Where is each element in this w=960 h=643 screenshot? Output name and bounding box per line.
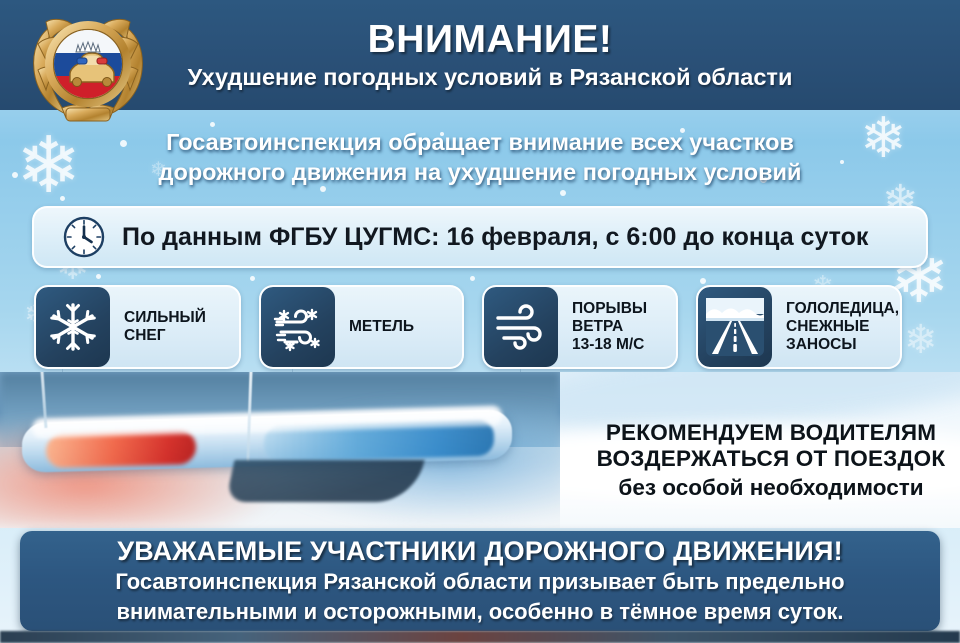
recommendation-text: РЕКОМЕНДУЕМ ВОДИТЕЛЯМ ВОЗДЕРЖАТЬСЯ ОТ ПО… bbox=[580, 420, 960, 501]
snow-dot bbox=[700, 278, 706, 284]
hazard-card-wind-gusts: ПОРЫВЫ ВЕТРА 13-18 М/С bbox=[482, 285, 678, 369]
forecast-bar: По данным ФГБУ ЦУГМС: 16 февраля, с 6:00… bbox=[32, 206, 928, 268]
clock-icon bbox=[62, 215, 106, 259]
hazard-card-label: ПОРЫВЫ ВЕТРА 13-18 М/С bbox=[558, 300, 661, 355]
snow-covered-police-lightbar-photo bbox=[0, 372, 560, 528]
hazard-card-label: ГОЛОЛЕДИЦА, СНЕЖНЫЕ ЗАНОСЫ bbox=[772, 300, 902, 355]
hazard-card-label: СИЛЬНЫЙ СНЕГ bbox=[110, 309, 220, 346]
snowy-road-icon bbox=[698, 287, 772, 367]
blizzard-icon bbox=[261, 287, 335, 367]
recommendation-line-1: РЕКОМЕНДУЕМ ВОДИТЕЛЯМ bbox=[580, 420, 960, 446]
bottom-photo-strip bbox=[0, 631, 960, 643]
snow-dot bbox=[96, 274, 101, 279]
bottom-banner-line-2: Госавтоинспекция Рязанской области призы… bbox=[115, 569, 844, 595]
hazard-card-row: СИЛЬНЫЙ СНЕГ bbox=[34, 285, 930, 369]
snow-dot bbox=[250, 276, 255, 281]
hazard-card-ice-snowdrifts: ГОЛОЛЕДИЦА, СНЕЖНЫЕ ЗАНОСЫ bbox=[696, 285, 902, 369]
hazard-card-heavy-snow: СИЛЬНЫЙ СНЕГ bbox=[34, 285, 241, 369]
intro-line-2: дорожного движения на ухудшение погодных… bbox=[159, 157, 802, 187]
snow-dot bbox=[470, 276, 475, 281]
lightbar-mount bbox=[226, 460, 425, 502]
recommendation-panel: РЕКОМЕНДУЕМ ВОДИТЕЛЯМ ВОЗДЕРЖАТЬСЯ ОТ ПО… bbox=[560, 372, 960, 528]
recommendation-line-3: без особой необходимости bbox=[580, 474, 960, 501]
intro-line-1: Госавтоинспекция обращает внимание всех … bbox=[166, 127, 794, 157]
page-subtitle: Ухудшение погодных условий в Рязанской о… bbox=[40, 65, 940, 90]
snowflake-icon bbox=[36, 287, 110, 367]
gibdd-emblem-icon bbox=[22, 4, 154, 126]
forecast-text: По данным ФГБУ ЦУГМС: 16 февраля, с 6:00… bbox=[122, 223, 868, 252]
page-title: ВНИМАНИЕ! bbox=[40, 20, 940, 60]
wind-icon bbox=[484, 287, 558, 367]
intro-paragraph: Госавтоинспекция обращает внимание всех … bbox=[0, 114, 960, 200]
recommendation-line-2: ВОЗДЕРЖАТЬСЯ ОТ ПОЕЗДОК bbox=[580, 446, 960, 472]
hazard-card-label: МЕТЕЛЬ bbox=[335, 318, 428, 336]
bottom-banner-title: УВАЖАЕМЫЕ УЧАСТНИКИ ДОРОЖНОГО ДВИЖЕНИЯ! bbox=[117, 537, 843, 566]
bottom-banner-line-3: внимательными и осторожными, особенно в … bbox=[117, 599, 844, 625]
bottom-banner: УВАЖАЕМЫЕ УЧАСТНИКИ ДОРОЖНОГО ДВИЖЕНИЯ! … bbox=[20, 531, 940, 631]
weather-warning-poster: ❄ ❄ ❄ ❄ ❄ ❄ ❄ ❄ ❄ ВНИМАНИЕ! Ухудшение по… bbox=[0, 0, 960, 643]
hazard-card-blizzard: МЕТЕЛЬ bbox=[259, 285, 464, 369]
